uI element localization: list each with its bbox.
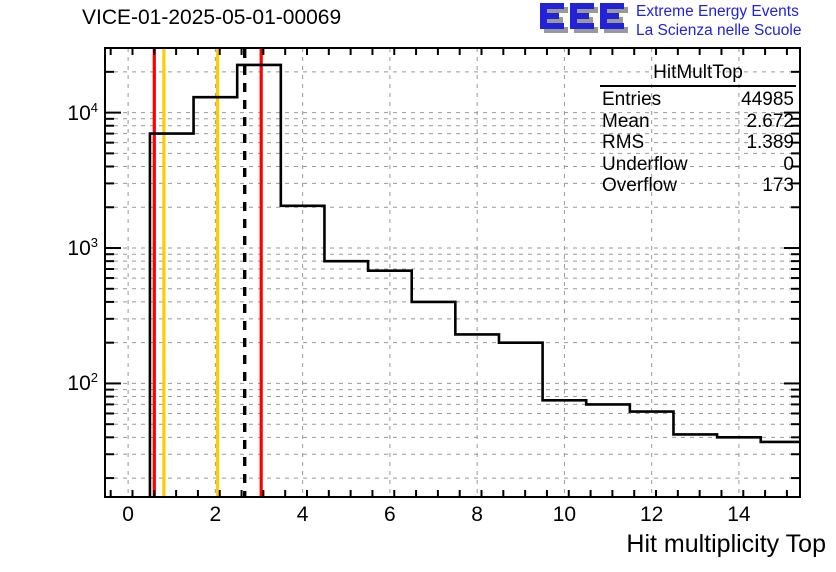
y-tick-label: 104 — [36, 100, 98, 126]
y-tick-label: 103 — [36, 235, 98, 261]
y-tick-label: 102 — [36, 370, 98, 396]
stats-row: Overflow173 — [596, 175, 800, 197]
stats-row: Mean2.672 — [596, 111, 800, 133]
stats-divider — [600, 85, 796, 87]
stats-value: 0 — [783, 154, 794, 176]
x-tick-label: 10 — [553, 503, 576, 527]
stats-box: HitMultTop Entries44985Mean2.672RMS1.389… — [596, 62, 800, 197]
stats-rows: Entries44985Mean2.672RMS1.389Underflow0O… — [596, 89, 800, 197]
stats-value: 173 — [762, 175, 794, 197]
x-tick-label: 2 — [210, 503, 222, 527]
x-tick-label: 8 — [471, 503, 483, 527]
stats-row: Underflow0 — [596, 154, 800, 176]
x-tick-label: 0 — [122, 503, 134, 527]
stats-title: HitMultTop — [596, 62, 800, 85]
stats-value: 1.389 — [746, 132, 794, 154]
stats-row: Entries44985 — [596, 89, 800, 111]
stats-key: RMS — [602, 132, 644, 154]
stats-row: RMS1.389 — [596, 132, 800, 154]
x-tick-label: 4 — [297, 503, 309, 527]
stats-key: Mean — [602, 111, 650, 133]
stats-value: 2.672 — [746, 111, 794, 133]
x-tick-label: 14 — [727, 503, 750, 527]
stats-value: 44985 — [741, 89, 794, 111]
x-tick-label: 12 — [640, 503, 663, 527]
plot-root: VICE-01-2025-05-01-00069 — [0, 0, 836, 572]
stats-key: Overflow — [602, 175, 677, 197]
marker-lines — [154, 49, 261, 496]
stats-key: Entries — [602, 89, 661, 111]
x-tick-label: 6 — [384, 503, 396, 527]
x-axis-title: Hit multiplicity Top — [626, 530, 826, 559]
stats-key: Underflow — [602, 154, 688, 176]
